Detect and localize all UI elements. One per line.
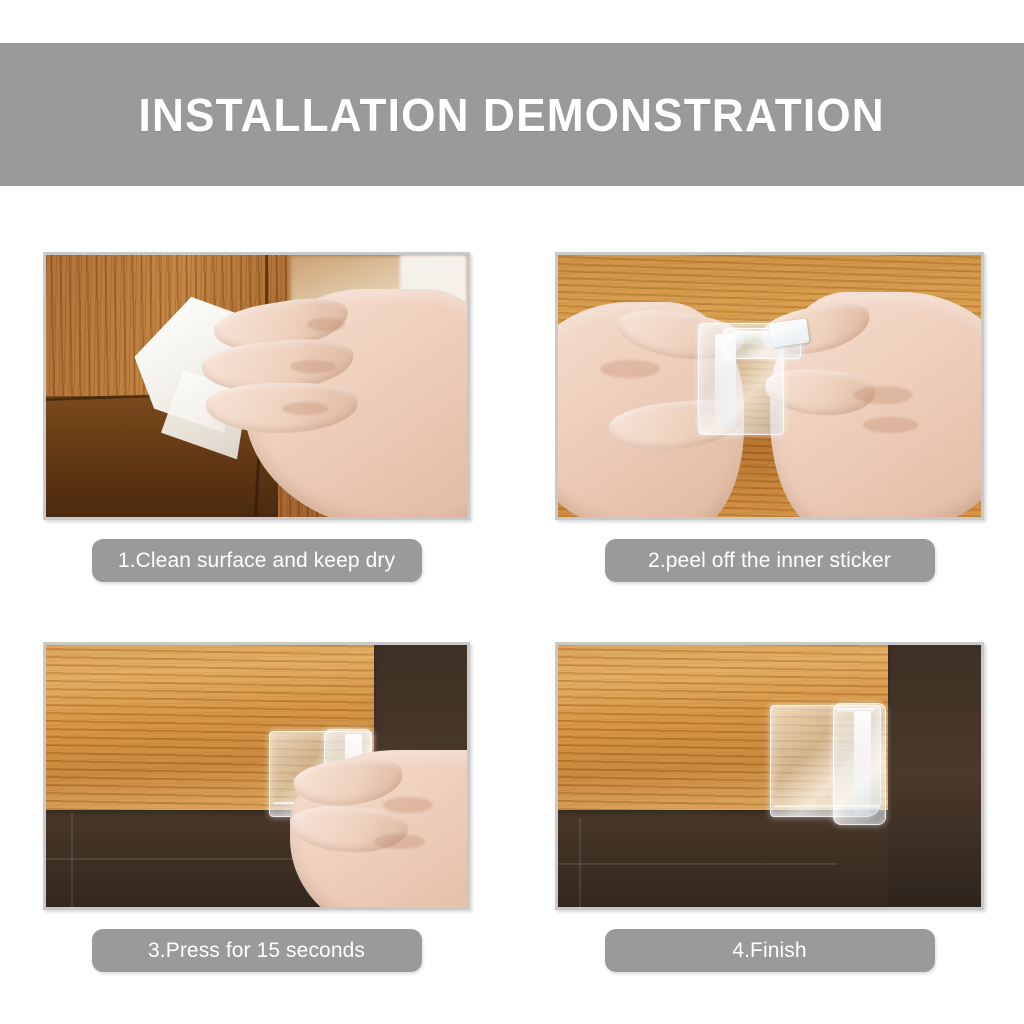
knuckle-crease — [383, 797, 434, 813]
step-4-photo — [558, 645, 981, 907]
left-hand-crease — [600, 360, 659, 378]
step-4-photo-frame — [555, 642, 984, 910]
knuckle-crease-2 — [374, 834, 425, 850]
tile-grout-line — [46, 858, 299, 860]
step-1-photo-frame — [43, 252, 470, 520]
inner-sticker — [768, 318, 809, 347]
guard-specular-highlight — [854, 711, 871, 816]
step-1-caption-text: 1.Clean surface and keep dry — [118, 549, 395, 573]
knuckle-crease — [307, 318, 345, 331]
step-card-3: 3.Press for 15 seconds — [43, 642, 470, 982]
header-band: INSTALLATION DEMONSTRATION — [0, 43, 1024, 186]
step-2-photo-frame — [555, 252, 984, 520]
step-3-caption-text: 3.Press for 15 seconds — [148, 939, 365, 963]
step-card-4: 4.Finish — [555, 642, 984, 982]
step-3-caption-pill: 3.Press for 15 seconds — [92, 929, 422, 972]
guard-specular-highlight — [715, 334, 736, 428]
step-card-2: 2.peel off the inner sticker — [555, 252, 984, 582]
step-card-1: 1.Clean surface and keep dry — [43, 252, 470, 582]
guard-edge-highlight — [774, 805, 880, 808]
tile-grout-line-vertical — [71, 813, 73, 907]
step-1-photo — [46, 255, 467, 517]
step-2-caption-text: 2.peel off the inner sticker — [648, 549, 891, 573]
knuckle-crease-2 — [290, 360, 336, 373]
guard-top-highlight — [837, 708, 875, 712]
step-4-caption-pill: 4.Finish — [605, 929, 935, 972]
knuckle-crease-3 — [282, 402, 328, 415]
step-3-photo — [46, 645, 467, 907]
step-4-caption-text: 4.Finish — [732, 939, 806, 963]
tile-grout-line-vertical — [579, 818, 581, 907]
step-1-caption-pill: 1.Clean surface and keep dry — [92, 539, 422, 582]
tile-grout-line — [558, 863, 837, 865]
step-2-photo — [558, 255, 981, 517]
step-2-caption-pill: 2.peel off the inner sticker — [605, 539, 935, 582]
right-hand-crease-2 — [863, 417, 918, 433]
page-title: INSTALLATION DEMONSTRATION — [139, 88, 885, 142]
steps-grid: 1.Clean surface and keep dry — [43, 252, 984, 982]
step-3-photo-frame — [43, 642, 470, 910]
background-wall — [888, 645, 981, 907]
